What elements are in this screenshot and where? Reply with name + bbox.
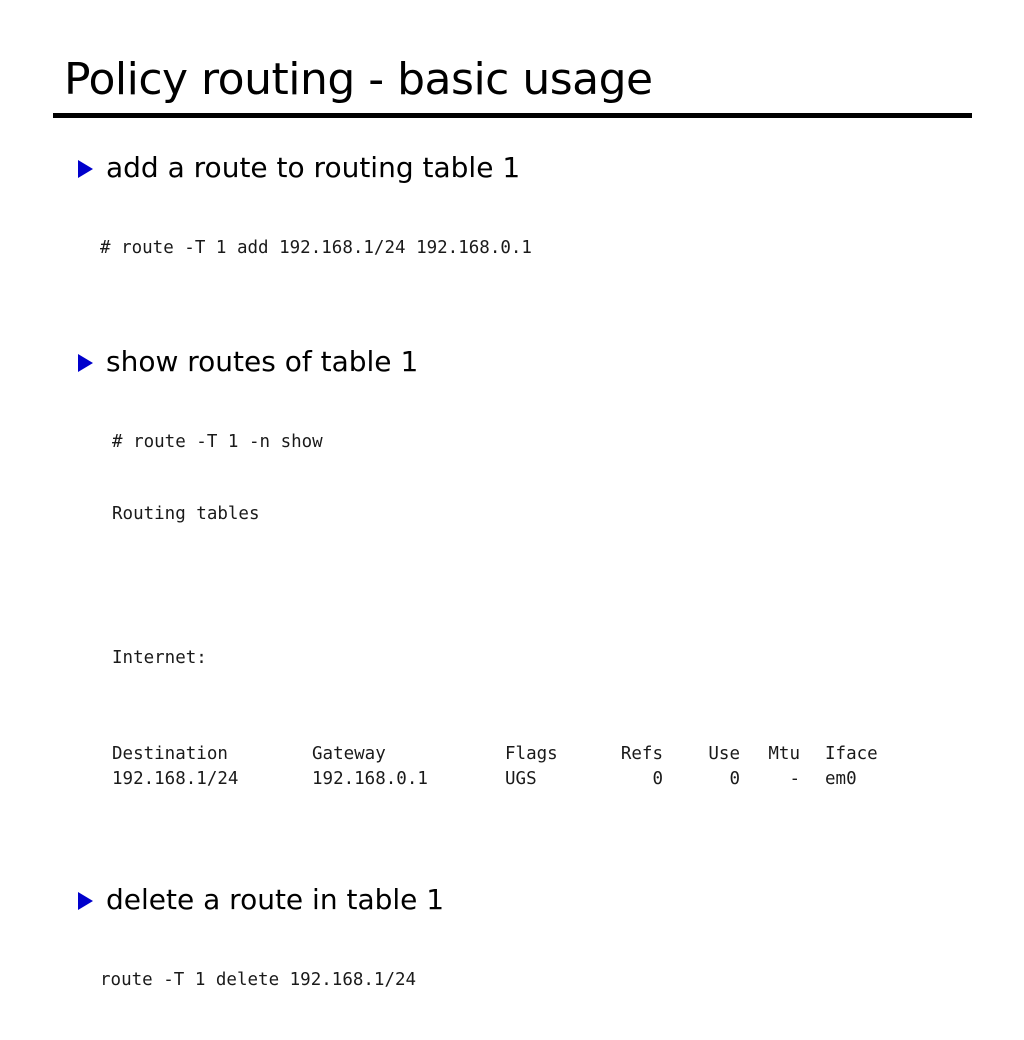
cell-refs: 0 [585,767,663,792]
code-line-blank [112,574,1024,598]
bullet-item-add-route: add a route to routing table 1 [0,150,1024,186]
routing-table-output: Destination Gateway Flags Refs Use Mtu I… [112,742,905,792]
bullet-item-delete-route: delete a route in table 1 [0,882,1024,918]
cell-flags: UGS [505,767,585,792]
slide-canvas: Policy routing - basic usage add a route… [0,0,1024,768]
bullet-label: add a route to routing table 1 [106,150,520,186]
column-header-use: Use [663,742,740,767]
code-line: # route -T 1 add 192.168.1/24 192.168.0.… [100,236,1024,260]
section-spacer [0,840,1024,882]
column-header-destination: Destination [112,742,312,767]
code-line: Internet: [112,646,1024,670]
bullet-item-show-routes: show routes of table 1 [0,344,1024,380]
slide-body: add a route to routing table 1 # route -… [0,150,1024,1040]
section-spacer [0,308,1024,344]
column-header-iface: Iface [800,742,905,767]
cell-destination: 192.168.1/24 [112,767,312,792]
content-block-delete-route: delete a route in table 1 route -T 1 del… [0,882,1024,1040]
title-underline-rule [53,113,972,118]
bullet-label: delete a route in table 1 [106,882,444,918]
page-title: Policy routing - basic usage [64,52,653,108]
cell-gateway: 192.168.0.1 [312,767,505,792]
code-line: route -T 1 delete 192.168.1/24 [100,968,1024,992]
code-block-show-routes: # route -T 1 -n show Routing tables Inte… [0,382,1024,840]
content-block-show-routes: show routes of table 1 # route -T 1 -n s… [0,344,1024,840]
triangle-bullet-icon [78,354,93,372]
triangle-bullet-icon [78,892,93,910]
bullet-label: show routes of table 1 [106,344,418,380]
column-header-gateway: Gateway [312,742,505,767]
column-header-flags: Flags [505,742,585,767]
code-line: Routing tables [112,502,1024,526]
table-row: 192.168.1/24 192.168.0.1 UGS 0 0 - em0 [112,767,905,792]
column-header-refs: Refs [585,742,663,767]
triangle-bullet-icon [78,160,93,178]
content-block-add-route: add a route to routing table 1 # route -… [0,150,1024,308]
cell-use: 0 [663,767,740,792]
code-block-add-route: # route -T 1 add 192.168.1/24 192.168.0.… [0,188,1024,308]
column-header-mtu: Mtu [740,742,800,767]
cell-iface: em0 [800,767,905,792]
code-line: # route -T 1 -n show [112,430,1024,454]
code-block-delete-route: route -T 1 delete 192.168.1/24 [0,920,1024,1040]
table-header-row: Destination Gateway Flags Refs Use Mtu I… [112,742,905,767]
cell-mtu: - [740,767,800,792]
